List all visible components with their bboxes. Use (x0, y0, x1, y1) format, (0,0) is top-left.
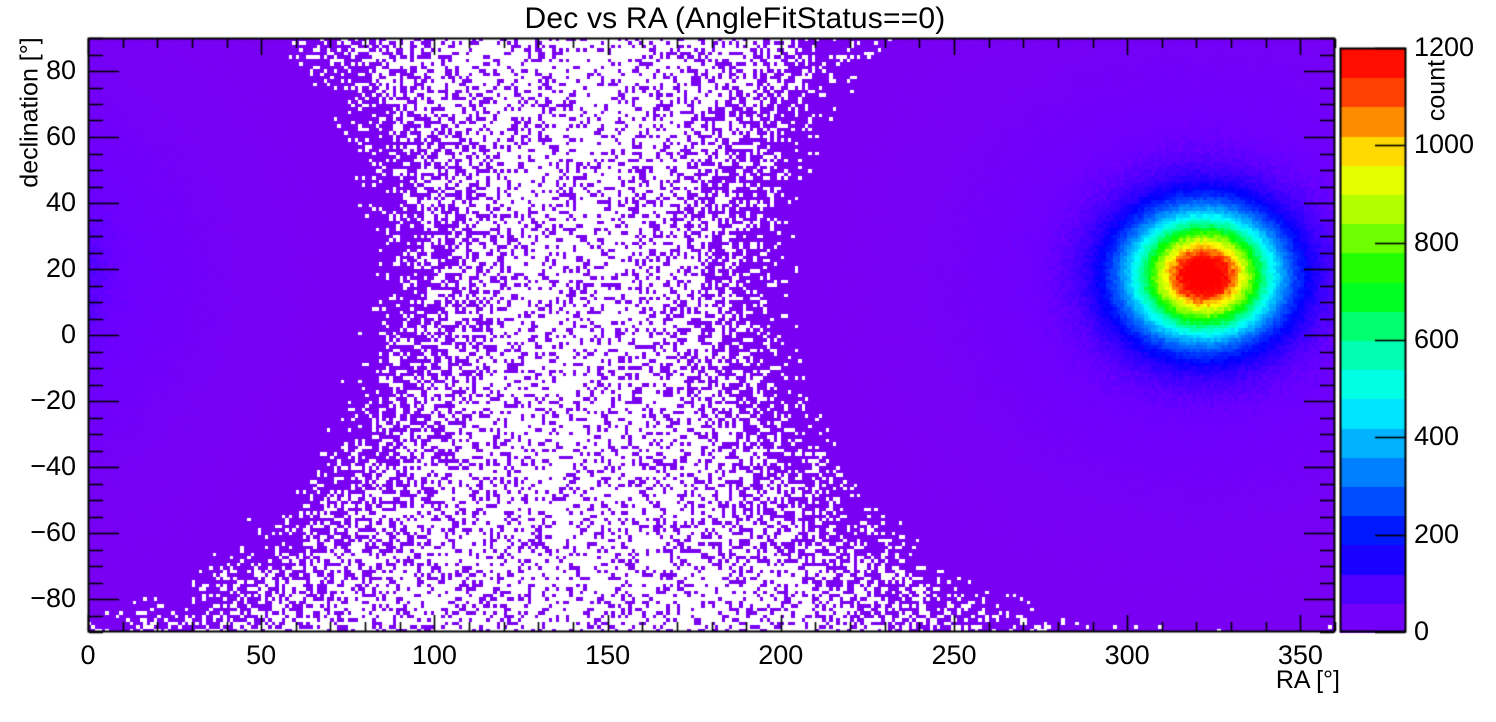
x-tick-label-0: 0 (28, 642, 148, 669)
z-tick-label-1000: 1000 (1414, 131, 1496, 158)
y-tick-label--20: −20 (0, 387, 76, 414)
z-tick-label-400: 400 (1414, 423, 1496, 450)
x-tick-label-200: 200 (721, 642, 841, 669)
z-tick-label-600: 600 (1414, 326, 1496, 353)
y-tick-label-40: 40 (0, 189, 76, 216)
x-tick-label-100: 100 (374, 642, 494, 669)
y-tick-label--60: −60 (0, 519, 76, 546)
x-tick-label-150: 150 (548, 642, 668, 669)
z-tick-label-800: 800 (1414, 229, 1496, 256)
y-tick-label-60: 60 (0, 123, 76, 150)
y-axis-title: declination [°] (18, 23, 43, 203)
x-tick-label-250: 250 (894, 642, 1014, 669)
z-tick-label-200: 200 (1414, 521, 1496, 548)
y-tick-label-0: 0 (0, 321, 76, 348)
z-tick-label-1200: 1200 (1414, 34, 1496, 61)
x-tick-label-300: 300 (1067, 642, 1187, 669)
x-axis-title: RA [°] (1276, 668, 1340, 693)
y-tick-label-80: 80 (0, 57, 76, 84)
z-tick-label-0: 0 (1414, 618, 1496, 645)
dec-vs-ra-heatmap-canvas (0, 0, 1496, 722)
x-tick-label-50: 50 (201, 642, 321, 669)
y-tick-label--80: −80 (0, 585, 76, 612)
y-tick-label--40: −40 (0, 453, 76, 480)
y-tick-label-20: 20 (0, 255, 76, 282)
x-tick-label-350: 350 (1240, 642, 1360, 669)
page-title: Dec vs RA (AngleFitStatus==0) (0, 4, 1470, 34)
